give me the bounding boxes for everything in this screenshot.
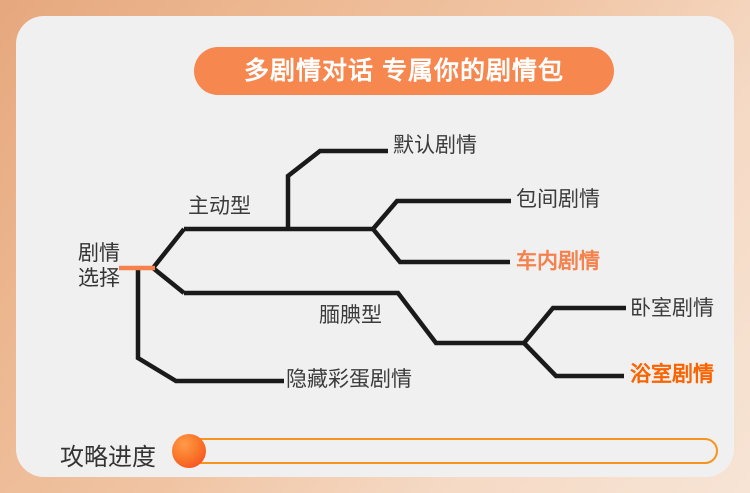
node-bathroom-plot[interactable]: 浴室剧情 (630, 363, 714, 388)
node-private-room-plot[interactable]: 包间剧情 (516, 188, 600, 213)
progress-label: 攻略进度 (60, 437, 156, 472)
node-bedroom-plot[interactable]: 卧室剧情 (630, 297, 714, 322)
node-hidden-easter-egg-plot[interactable]: 隐藏彩蛋剧情 (286, 368, 412, 393)
progress-row: 攻略进度 (60, 432, 720, 476)
node-in-car-plot[interactable]: 车内剧情 (516, 250, 600, 275)
content-card: 多剧情对话 专属你的剧情包 (16, 16, 734, 477)
node-root-line1: 剧情 (78, 242, 120, 265)
node-root[interactable]: 剧情 选择 (60, 242, 138, 292)
node-default-plot[interactable]: 默认剧情 (393, 134, 477, 159)
progress-knob[interactable] (172, 434, 206, 468)
progress-track[interactable] (178, 438, 718, 464)
node-root-line2: 选择 (78, 267, 120, 290)
node-active-type[interactable]: 主动型 (188, 195, 251, 220)
node-shy-type[interactable]: 腼腆型 (319, 304, 382, 329)
poster-frame: 多剧情对话 专属你的剧情包 (0, 0, 750, 493)
